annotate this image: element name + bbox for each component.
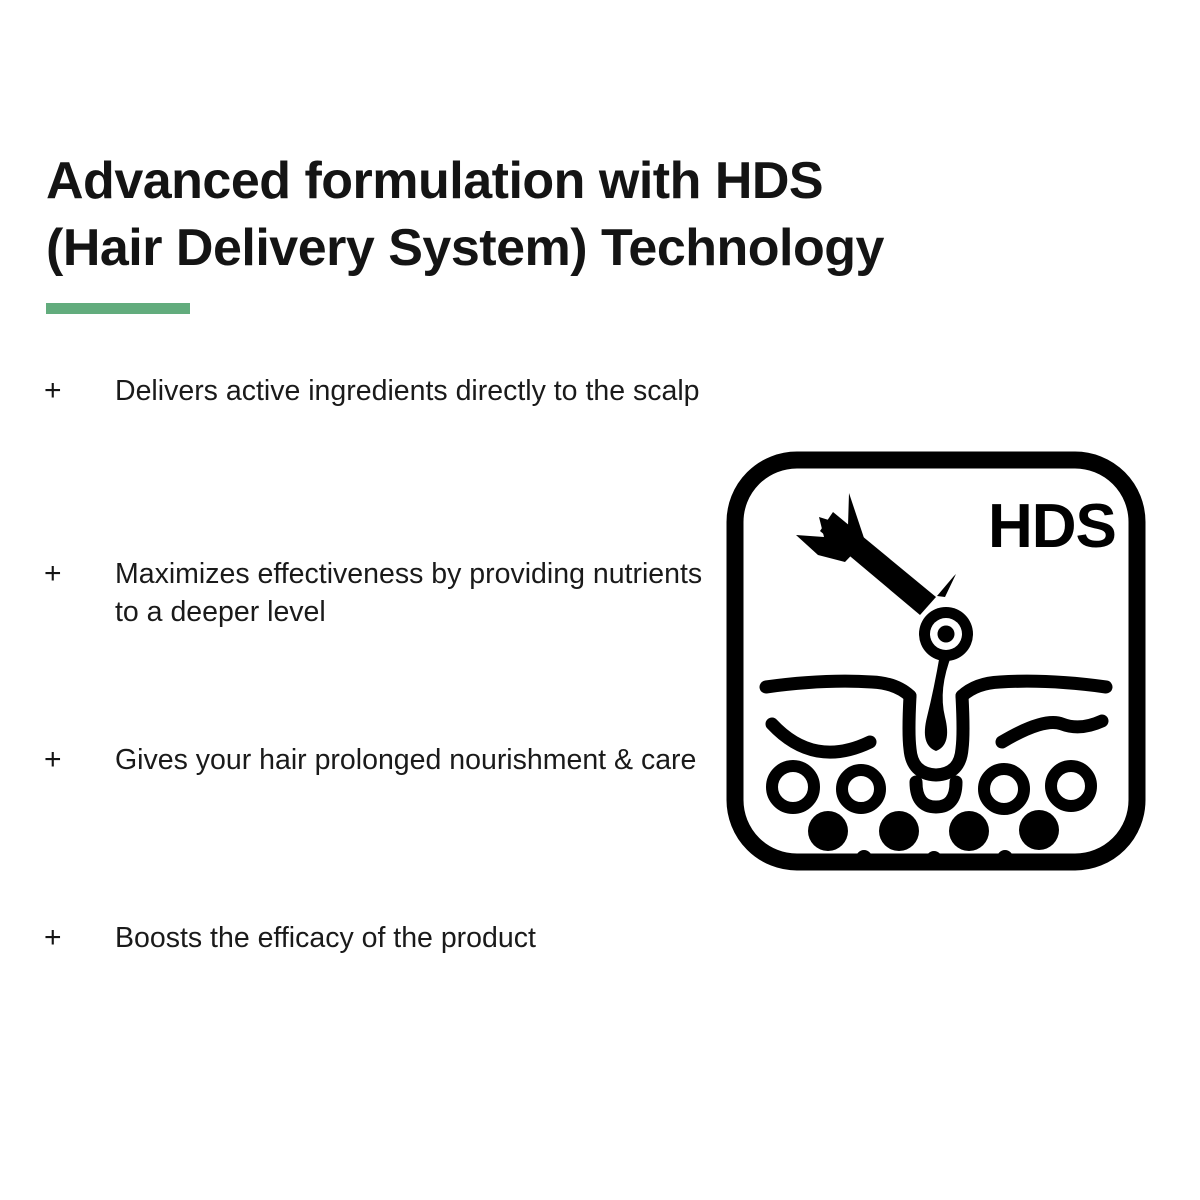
list-item-label: Delivers active ingredients directly to … [115, 372, 724, 410]
follicle-ring-core-icon [938, 626, 955, 643]
skin-surface-right-icon [962, 681, 1106, 696]
list-item-label: Boosts the efficacy of the product [115, 919, 744, 957]
pore-ring-icon [842, 770, 880, 808]
hds-icon-graphic: HDS [724, 449, 1148, 873]
particle-small-icon [926, 851, 942, 867]
list-item-label: Maximizes effectiveness by providing nut… [115, 555, 724, 631]
pore-ring-icon [772, 766, 814, 808]
title-accent-rule [46, 303, 190, 314]
skin-surface-left-icon [766, 681, 910, 696]
list-item: + Boosts the efficacy of the product [44, 919, 744, 957]
plus-icon: + [44, 555, 115, 593]
particle-small-icon [856, 850, 872, 866]
leader-line-icon [937, 574, 956, 597]
pore-ring-icon [1051, 766, 1091, 806]
list-item-label: Gives your hair prolonged nourishment & … [115, 741, 744, 779]
particle-icon [949, 811, 989, 851]
page-title: Advanced formulation with HDS (Hair Deli… [46, 148, 1046, 281]
pore-ring-icon [984, 769, 1024, 809]
heading-block: Advanced formulation with HDS (Hair Deli… [46, 148, 1046, 281]
particle-icon [808, 811, 848, 851]
list-item: + Maximizes effectiveness by providing n… [44, 555, 724, 631]
plus-icon: + [44, 741, 115, 779]
particle-icon [879, 811, 919, 851]
plus-icon: + [44, 372, 115, 410]
follicle-bulb-icon [916, 782, 956, 807]
particle-small-icon [997, 850, 1013, 866]
dermis-curve-left-icon [772, 724, 870, 752]
slide-canvas: Advanced formulation with HDS (Hair Deli… [0, 0, 1200, 1200]
particle-icon [1019, 810, 1059, 850]
hair-shaft-icon [925, 654, 952, 751]
arrow-fletching-icon [796, 493, 865, 562]
dermis-curve-right-icon [1002, 721, 1102, 742]
hds-label: HDS [988, 492, 1116, 561]
list-item: + Gives your hair prolonged nourishment … [44, 741, 744, 779]
list-item: + Delivers active ingredients directly t… [44, 372, 724, 410]
plus-icon: + [44, 919, 115, 957]
hds-technology-icon: HDS [724, 449, 1148, 873]
